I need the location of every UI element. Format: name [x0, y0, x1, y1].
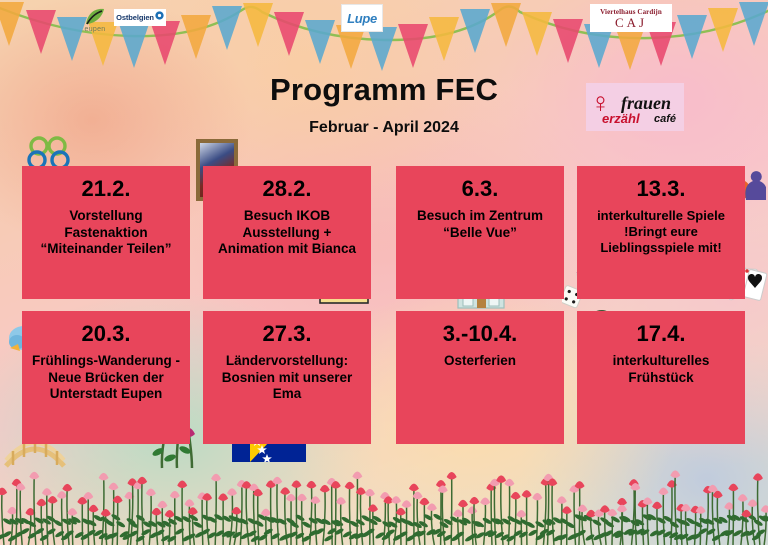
event-card[interactable]: 13.3. interkulturelle Spiele !Bringt eur…	[577, 166, 745, 299]
bunting-flag	[553, 19, 583, 63]
page-subtitle: Februar - April 2024	[0, 119, 768, 137]
event-description: interkulturelles Frühstück	[583, 353, 739, 386]
event-date: 21.2.	[82, 176, 131, 202]
event-date: 20.3.	[82, 321, 131, 347]
logo-eupen: eupen	[78, 5, 112, 35]
logo-caj: Viertelhaus Cardijn CAJ	[590, 4, 672, 32]
logo-caj-line2: CAJ	[615, 16, 647, 29]
bunting-flag	[429, 17, 459, 61]
bunting-flag	[0, 2, 24, 46]
event-card[interactable]: 28.2. Besuch IKOB Ausstellung + Animatio…	[203, 166, 371, 299]
bunting-flag	[677, 15, 707, 59]
bunting-flag	[522, 12, 552, 56]
event-date: 27.3.	[263, 321, 312, 347]
bunting-flag	[274, 12, 304, 56]
logo-lupe-label: Lupe	[347, 11, 377, 26]
bunting-flag	[181, 15, 211, 59]
poster-canvas: eupen Ostbelgien Lupe Viertelhaus Cardij…	[0, 0, 768, 545]
event-description: Ländervorstellung: Bosnien mit unserer E…	[209, 353, 365, 403]
bunting-flag	[615, 26, 645, 70]
eupen-leaf-icon	[84, 8, 106, 26]
event-card[interactable]: 6.3. Besuch im Zentrum “Belle Vue”	[396, 166, 564, 299]
bunting-flag	[739, 2, 768, 46]
bunting-flag	[491, 3, 521, 47]
event-date: 28.2.	[263, 176, 312, 202]
logo-eupen-label: eupen	[85, 26, 106, 33]
event-description: Osterferien	[444, 353, 516, 370]
miteinander-teilen-mark-icon	[22, 136, 78, 170]
bunting-flag	[212, 6, 242, 50]
logo-lupe: Lupe	[341, 4, 383, 32]
bunting-flag	[26, 10, 56, 54]
bunting-flag	[367, 27, 397, 71]
event-card[interactable]: 27.3. Ländervorstellung: Bosnien mit uns…	[203, 311, 371, 444]
event-card[interactable]: 20.3. Frühlings-Wanderung - Neue Brücken…	[22, 311, 190, 444]
event-card[interactable]: 17.4. interkulturelles Frühstück	[577, 311, 745, 444]
bunting-flag	[150, 21, 180, 65]
ostbelgien-mark-icon	[155, 11, 164, 20]
event-description: Besuch im Zentrum “Belle Vue”	[402, 208, 558, 241]
event-description: Frühlings-Wanderung - Neue Brücken der U…	[28, 353, 184, 403]
event-description: interkulturelle Spiele !Bringt eure Lieb…	[583, 208, 739, 256]
tulip-flower-border	[0, 457, 768, 545]
event-date: 3.-10.4.	[443, 321, 518, 347]
logo-ostbelgien: Ostbelgien	[114, 9, 166, 26]
bunting-flag	[708, 8, 738, 52]
bunting-flag	[119, 24, 149, 68]
event-description: Besuch IKOB Ausstellung + Animation mit …	[209, 208, 365, 258]
event-description: Vorstellung Fastenaktion “Miteinander Te…	[28, 208, 184, 258]
event-date: 17.4.	[637, 321, 686, 347]
event-date: 13.3.	[637, 176, 686, 202]
event-card[interactable]: 3.-10.4. Osterferien	[396, 311, 564, 444]
page-title: Programm FEC	[0, 72, 768, 108]
bunting-flag	[305, 20, 335, 64]
event-card[interactable]: 21.2. Vorstellung Fastenaktion “Miteinan…	[22, 166, 190, 299]
event-date: 6.3.	[462, 176, 499, 202]
bunting-flag	[243, 3, 273, 47]
bunting-flag	[398, 24, 428, 68]
logo-ostbelgien-label: Ostbelgien	[116, 13, 154, 22]
bunting-flag	[460, 9, 490, 53]
